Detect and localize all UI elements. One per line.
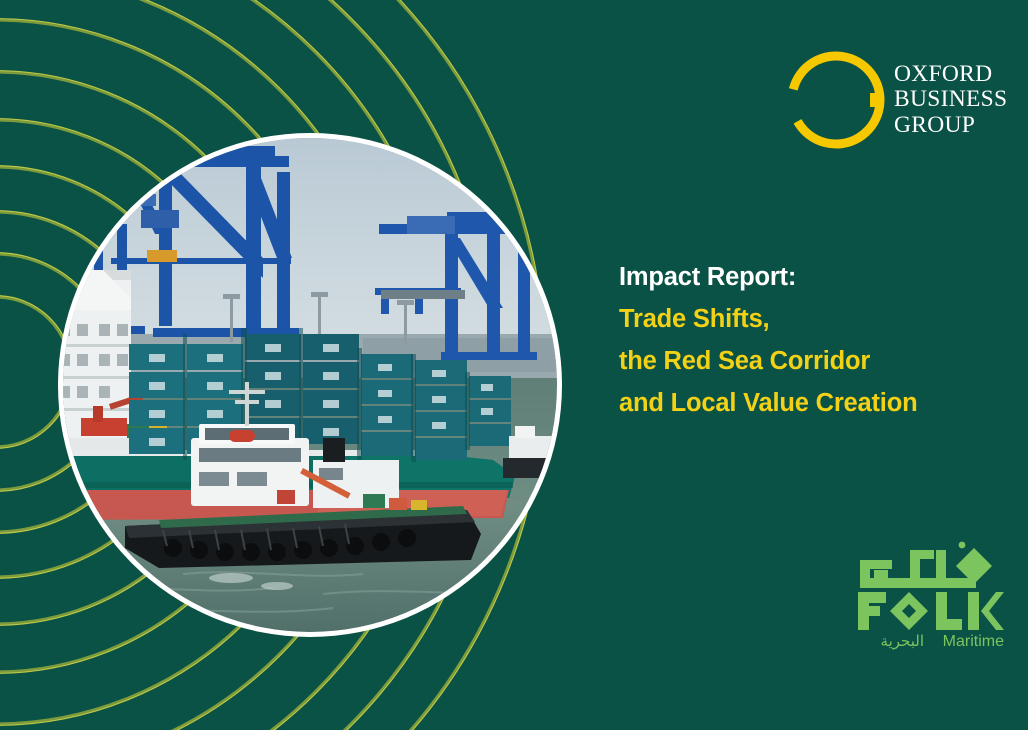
folk-arabic-descriptor: البحرية <box>881 632 924 650</box>
port-container-ship-photo <box>63 138 557 632</box>
obg-word-line-3: GROUP <box>894 113 1007 139</box>
obg-word-line-2: BUSINESS <box>894 87 1007 113</box>
hero-image-circle <box>58 133 562 637</box>
folk-maritime-logo: Maritime البحرية <box>852 534 1004 652</box>
oxford-business-group-logo: OXFORD BUSINESS GROUP <box>782 44 1014 156</box>
report-cover-page: OXFORD BUSINESS GROUP Impact Report: Tra… <box>0 0 1028 730</box>
folk-latin-descriptor: Maritime <box>943 633 1004 650</box>
title-line-2: Trade Shifts, <box>619 298 1009 340</box>
title-line-1: Impact Report: <box>619 256 1009 298</box>
report-title: Impact Report: Trade Shifts, the Red Sea… <box>619 256 1009 424</box>
ring-icon <box>782 46 890 154</box>
obg-word-line-1: OXFORD <box>894 62 1007 88</box>
oxford-business-group-wordmark: OXFORD BUSINESS GROUP <box>894 62 1007 139</box>
title-line-3: the Red Sea Corridor <box>619 340 1009 382</box>
title-line-4: and Local Value Creation <box>619 382 1009 424</box>
